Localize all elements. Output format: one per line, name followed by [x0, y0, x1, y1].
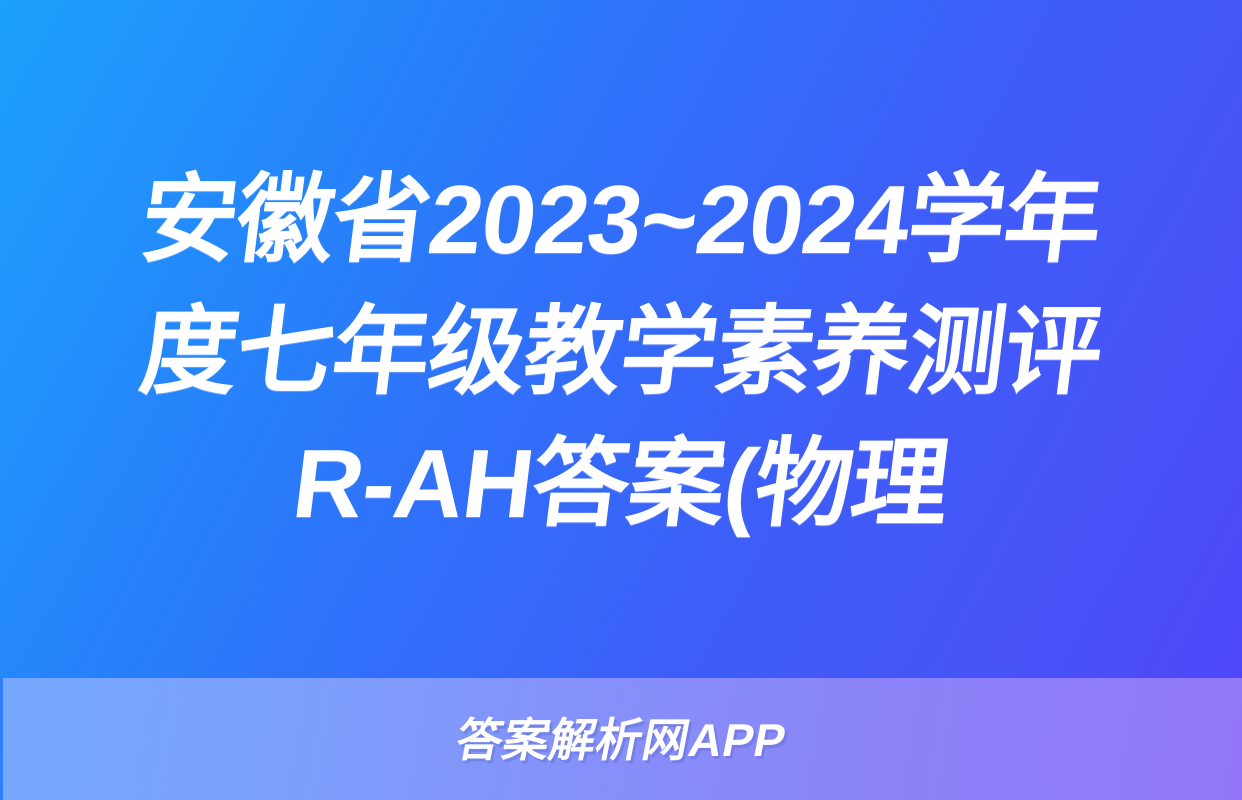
band-left-accent-strip — [0, 678, 3, 800]
headline-line-3: R-AH答案(物理 — [63, 418, 1179, 550]
banner-canvas: 安徽省2023~2024学年 度七年级教学素养测评 R-AH答案(物理 答案解析… — [0, 0, 1242, 800]
watermark-band: 答案解析网APP — [0, 678, 1242, 800]
watermark-label: 答案解析网APP — [452, 717, 790, 763]
headline-line-1: 安徽省2023~2024学年 — [63, 154, 1179, 286]
headline-line-2: 度七年级教学素养测评 — [63, 286, 1179, 418]
headline-block: 安徽省2023~2024学年 度七年级教学素养测评 R-AH答案(物理 — [0, 0, 1242, 678]
